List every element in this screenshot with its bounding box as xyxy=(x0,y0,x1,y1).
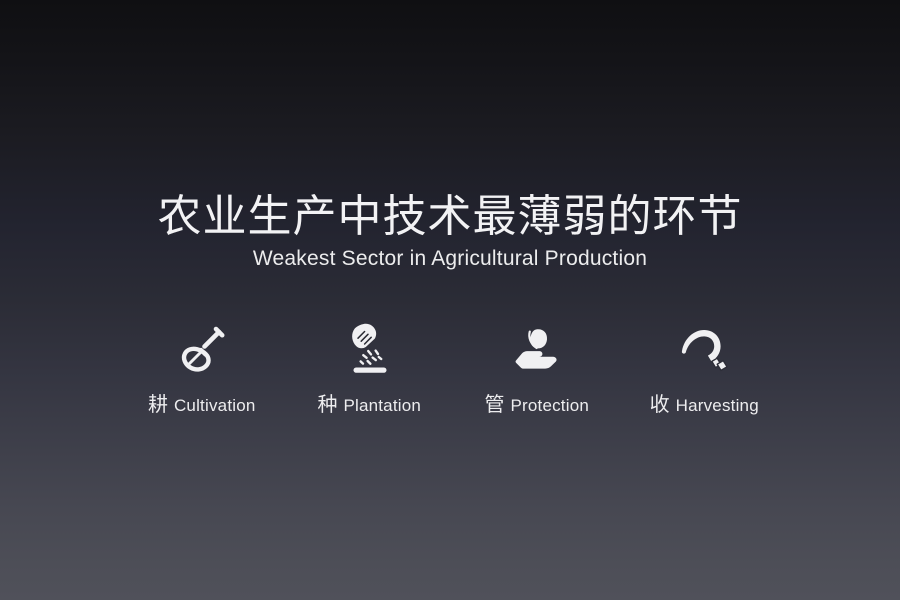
stage-label-en: Cultivation xyxy=(174,395,256,417)
stage-label-cn: 收 xyxy=(650,394,670,416)
stage-label-protection: 管 Protection xyxy=(484,394,589,417)
agriculture-stage-row: 耕 Cultivation xyxy=(118,318,788,417)
stage-item-harvesting: 收 Harvesting xyxy=(621,318,789,417)
stage-label-cn: 管 xyxy=(484,394,504,416)
hand-sowing-seeds-icon xyxy=(333,318,405,380)
stage-label-cn: 种 xyxy=(317,394,337,416)
page-subtitle: Weakest Sector in Agricultural Productio… xyxy=(0,246,900,272)
page-title: 农业生产中技术最薄弱的环节 xyxy=(0,190,900,244)
stage-label-harvesting: 收 Harvesting xyxy=(650,394,759,417)
stage-label-cn: 耕 xyxy=(148,394,168,416)
sickle-icon xyxy=(668,318,740,380)
shovel-icon xyxy=(166,318,238,380)
title-block: 农业生产中技术最薄弱的环节 Weakest Sector in Agricult… xyxy=(0,190,900,272)
stage-item-plantation: 种 Plantation xyxy=(286,318,454,417)
hand-holding-leaf-icon xyxy=(501,318,573,380)
stage-label-cultivation: 耕 Cultivation xyxy=(148,394,256,417)
stage-label-en: Plantation xyxy=(343,395,421,417)
stage-item-protection: 管 Protection xyxy=(453,318,621,417)
stage-item-cultivation: 耕 Cultivation xyxy=(118,318,286,417)
presentation-slide: 农业生产中技术最薄弱的环节 Weakest Sector in Agricult… xyxy=(0,0,900,600)
stage-label-en: Harvesting xyxy=(676,395,759,417)
stage-label-en: Protection xyxy=(510,395,589,417)
stage-label-plantation: 种 Plantation xyxy=(317,394,421,417)
